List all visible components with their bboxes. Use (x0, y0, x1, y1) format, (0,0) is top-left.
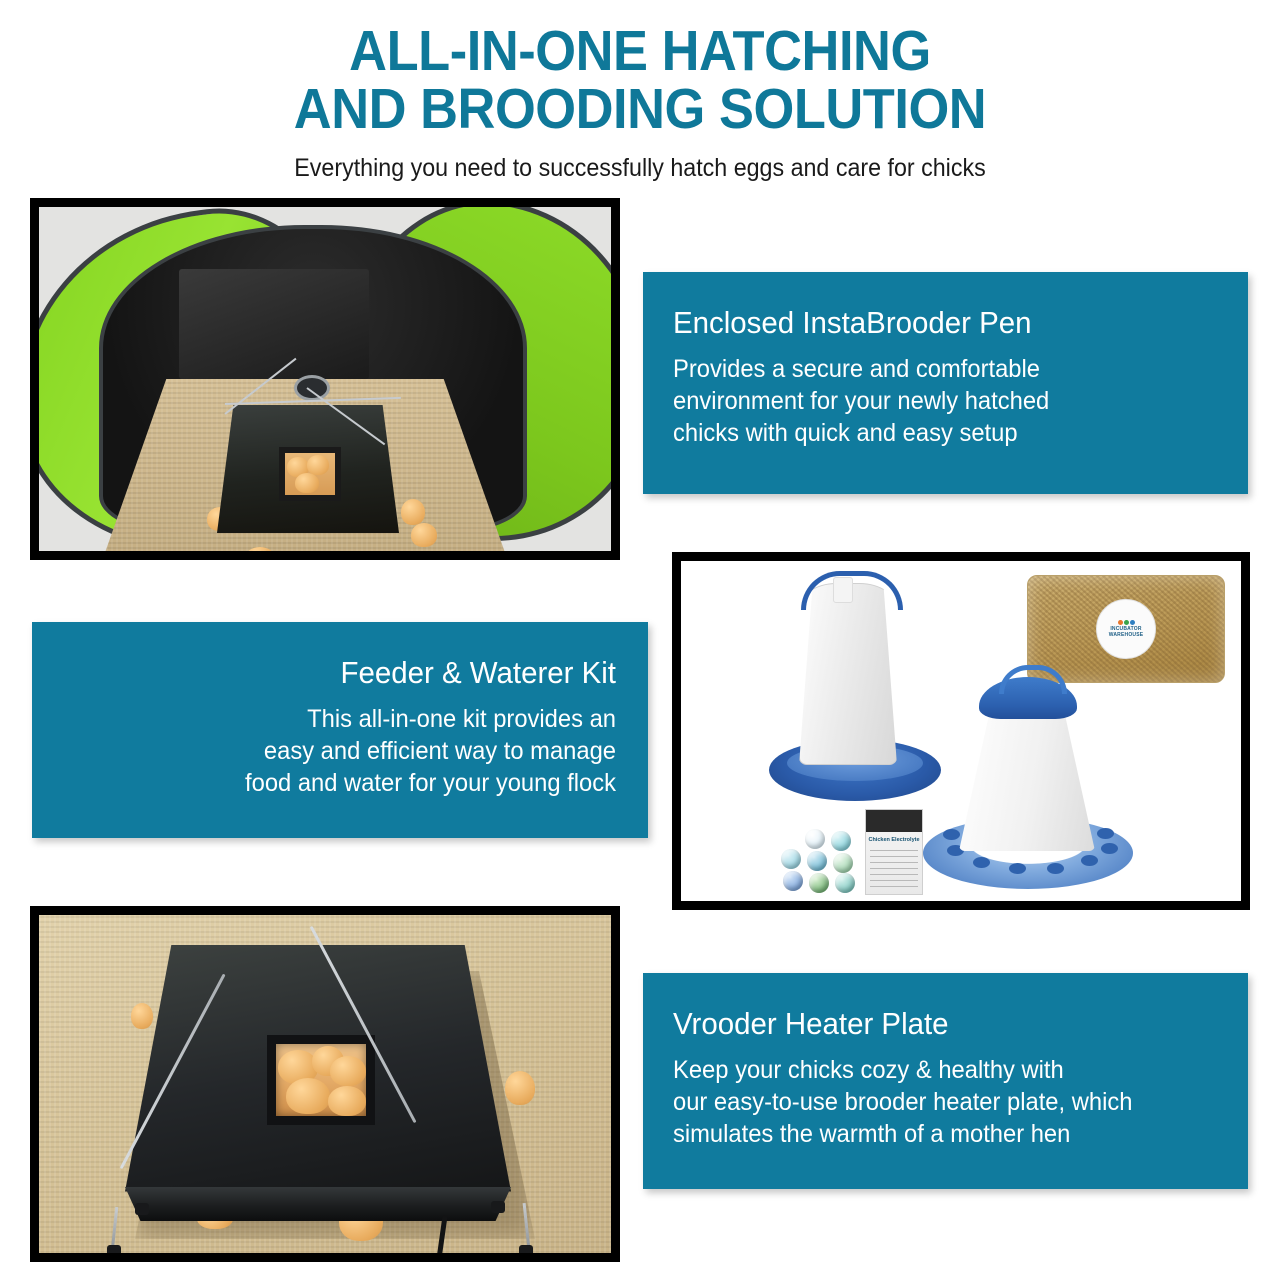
panel-body: This all-in-one kit provides an easy and… (90, 703, 616, 799)
feeder-cone (959, 703, 1095, 851)
heater-plate-window (267, 1035, 375, 1125)
logo-dots (1118, 620, 1135, 625)
panel-vrooder-heater-plate: Vrooder Heater Plate Keep your chicks co… (643, 973, 1248, 1189)
chick-feed-bag: INCUBATOR WAREHOUSE (1027, 575, 1225, 683)
logo-line-2: WAREHOUSE (1109, 633, 1144, 639)
pen-back-panel (179, 269, 369, 379)
pen-hanger-ring (294, 375, 330, 401)
pen-photo (30, 198, 620, 560)
page-title: ALL-IN-ONE HATCHING AND BROODING SOLUTIO… (51, 0, 1229, 138)
panel-feeder-waterer-kit: Feeder & Waterer Kit This all-in-one kit… (32, 622, 648, 838)
panel-body: Provides a secure and comfortable enviro… (673, 353, 1191, 449)
pen-scene (39, 207, 611, 551)
chick (505, 1071, 535, 1105)
chick (307, 455, 329, 475)
electrolyte-packet-title: Chicken Electrolyte (866, 837, 922, 843)
chick (411, 523, 437, 547)
chick (328, 1086, 366, 1116)
plate-photo-inner (39, 915, 611, 1253)
panel-body: Keep your chicks cozy & healthy with our… (673, 1054, 1191, 1150)
kit-photo-inner: INCUBATOR WAREHOUSE (681, 561, 1241, 901)
chick (131, 1003, 153, 1029)
incubator-warehouse-logo: INCUBATOR WAREHOUSE (1096, 599, 1156, 659)
plate-scene (39, 915, 611, 1253)
plate-foot (491, 1201, 505, 1213)
waterer-jar (799, 583, 897, 765)
panel-title: Enclosed InstaBrooder Pen (673, 306, 1191, 341)
plate-foot (519, 1245, 533, 1253)
chick (330, 1056, 366, 1086)
pen-plate-window (279, 447, 341, 501)
kit-scene: INCUBATOR WAREHOUSE (681, 561, 1241, 901)
waterer-handle (801, 571, 903, 610)
plate-foot (135, 1203, 149, 1215)
panel-title: Feeder & Waterer Kit (90, 656, 616, 691)
chicken-electrolyte-packet: Chicken Electrolyte (865, 809, 923, 895)
pen-photo-inner (39, 207, 611, 551)
chick (286, 1078, 330, 1114)
heater-plate-rim (125, 1187, 511, 1221)
plate-photo (30, 906, 620, 1262)
kit-photo: INCUBATOR WAREHOUSE (672, 552, 1250, 910)
panel-title: Vrooder Heater Plate (673, 1007, 1191, 1042)
plate-foot (107, 1245, 121, 1253)
page-subtitle: Everything you need to successfully hatc… (45, 138, 1235, 183)
chick (401, 499, 425, 525)
chick (295, 473, 319, 493)
panel-enclosed-instabrooder-pen: Enclosed InstaBrooder Pen Provides a sec… (643, 272, 1248, 494)
watering-marbles (781, 829, 863, 893)
header: ALL-IN-ONE HATCHING AND BROODING SOLUTIO… (0, 0, 1280, 183)
